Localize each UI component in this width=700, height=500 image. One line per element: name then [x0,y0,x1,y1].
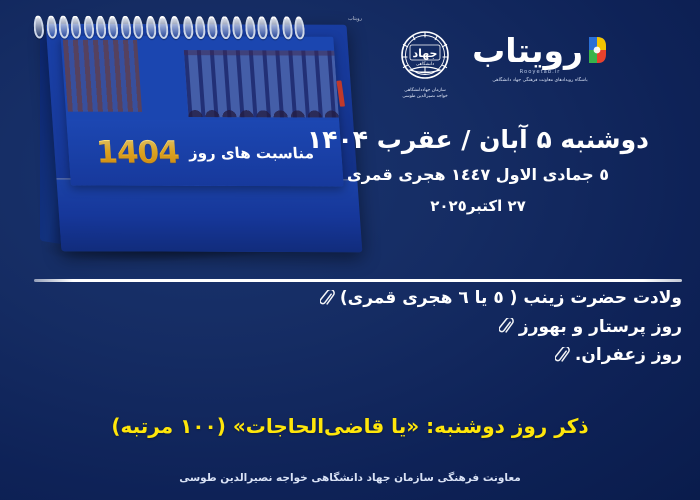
spiral-ring [182,16,194,39]
spiral-ring [83,16,95,39]
calendar-year-1404: 1404 [95,137,180,168]
siosepol-bridge-photo [184,50,339,117]
spiral-ring [244,16,256,39]
paperclip-icon [555,347,570,364]
rooyetab-colorful-mark-icon [586,35,608,65]
zekr-of-the-day: ذکر روز دوشنبه: «یا قاضی‌الحاجات» (۱۰۰ م… [0,412,700,440]
paperclip-icon [499,318,514,335]
spiral-ring [281,16,293,39]
rooyetab-url-text: Rooyetab.ir [520,69,561,75]
spiral-ring [120,16,132,39]
list-item: روز زعفران. [0,343,682,368]
bridge-arches [186,87,338,117]
jahad-caption: سازمان جهاددانشگاهی خواجه نصیرالدین طوسی [396,88,454,101]
event-text: روز زعفران. [575,343,682,368]
date-primary-persian: دوشنبه ۵ آبان / عقرب ۱۴۰۴ [278,124,678,155]
header-logo-row: رویتاب Rooyetab.ir باشگاه رویدادهای معاو… [396,28,608,101]
events-list: ولادت حضرت زینب ( ٥ یا ٦ هجری قمری) روز … [22,286,682,368]
paperclip-icon [320,290,335,307]
date-gregorian: ٢٧ اکتبر٢٠٢٥ [278,197,678,217]
spiral-ring [108,16,120,39]
svg-text:دانشگاهی: دانشگاهی [416,61,434,67]
list-item: ولادت حضرت زینب ( ٥ یا ٦ هجری قمری) [22,286,682,311]
date-block: دوشنبه ۵ آبان / عقرب ۱۴۰۴ ٥ جمادی الاول … [278,124,678,217]
rooyetab-tagline: باشگاه رویدادهای معاونت فرهنگی جهاد دانش… [492,78,587,83]
spiral-ring [170,16,182,39]
list-item: روز پرستار و بهورز [0,315,682,340]
spiral-ring [45,16,57,39]
daily-calendar-poster: مناسبت های روز 1404 [0,0,700,500]
rooyetab-wordmark-text: رویتاب [472,34,583,67]
calendar-spiral-binding [33,16,305,37]
spiral-ring [194,16,206,39]
spiral-ring [33,16,45,39]
spiral-ring [219,16,231,39]
spiral-ring [256,16,268,39]
jahad-caption-line-2: خواجه نصیرالدین طوسی [396,94,454,100]
persepolis-columns-photo [63,40,142,112]
svg-text:جهاد: جهاد [413,47,438,60]
rooyetab-wordmark-row: رویتاب [472,28,608,72]
spiral-ring [207,16,219,39]
calendar-cityscape-photo [61,36,340,121]
event-text: روز پرستار و بهورز [519,315,682,340]
event-text: ولادت حضرت زینب ( ٥ یا ٦ هجری قمری) [340,286,682,311]
spiral-ring [145,16,157,39]
section-divider [34,279,682,282]
spiral-ring [132,16,144,39]
rooyetab-logo[interactable]: رویتاب Rooyetab.ir باشگاه رویدادهای معاو… [472,28,608,83]
footer-organization: معاونت فرهنگی سازمان جهاد دانشگاهی خواجه… [0,471,700,486]
jahad-emblem-icon: جهاد دانشگاهی [396,28,454,86]
spiral-ring [294,16,306,39]
date-hijri-qamari: ٥ جمادی الاول ١٤٤٧ هجری قمری [278,165,678,186]
spiral-ring [95,16,107,39]
calendar-watermark-text: رویتاب [348,16,362,22]
spiral-ring [157,16,169,39]
spiral-ring [70,16,82,39]
jahad-daneshgahi-logo[interactable]: جهاد دانشگاهی سازمان جهاددانشگاهی خواجه … [396,28,454,101]
spiral-ring [269,16,281,39]
spiral-ring [58,16,70,39]
spiral-ring [232,16,244,39]
